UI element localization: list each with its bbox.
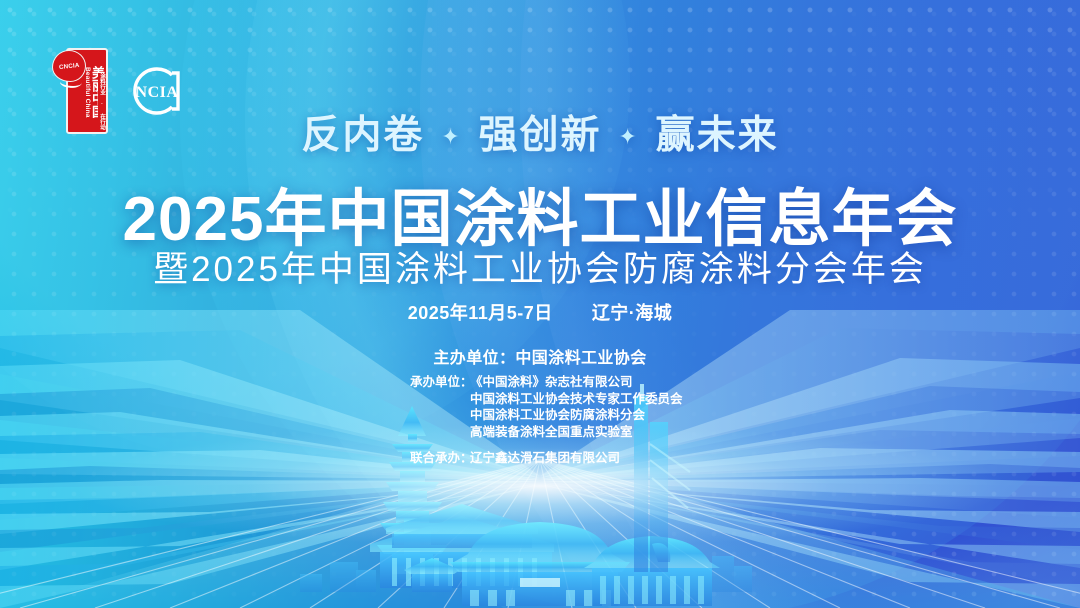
co-organizer-block: 联合承办 ： 辽宁鑫达滑石集团有限公司 — [396, 447, 620, 466]
slogan-part-3: 赢未来 — [656, 114, 779, 157]
host-label: 主办单位： — [433, 350, 515, 367]
organizers-label: 承办单位 — [396, 374, 460, 440]
slogan-separator-icon: ✦ — [618, 124, 638, 150]
co-organizer-value: 辽宁鑫达滑石集团有限公司 — [470, 447, 620, 466]
host-line: 主办单位：中国涂料工业协会 — [0, 344, 1080, 368]
host-value: 中国涂料工业协会 — [515, 350, 646, 367]
banner-content: 反内卷 ✦ 强创新 ✦ 赢未来 2025年中国涂料工业信息年会 暨2025年中国… — [0, 0, 1080, 608]
co-organizer-label: 联合承办 — [396, 447, 460, 466]
organizer-item: 中国涂料工业协会技术专家工作委员会 — [470, 391, 683, 408]
organizer-item: 《中国涂料》杂志社有限公司 — [470, 374, 683, 391]
event-datetime-location: 2025年11月5-7日 辽宁·海城 — [0, 299, 1080, 325]
co-organizer-colon: ： — [460, 447, 470, 466]
slogan-part-2: 强创新 — [478, 114, 601, 157]
slogan-part-1: 反内卷 — [301, 114, 424, 157]
organizers-colon: ： — [460, 374, 470, 440]
event-date: 2025年11月5-7日 — [408, 303, 553, 323]
slogan-separator-icon: ✦ — [441, 124, 461, 150]
organizers-block: 承办单位 ： 《中国涂料》杂志社有限公司 中国涂料工业协会技术专家工作委员会 中… — [396, 374, 683, 440]
organizer-item: 中国涂料工业协会防腐涂料分会 — [470, 407, 683, 424]
event-subtitle: 暨2025年中国涂料工业协会防腐涂料分会年会 — [0, 241, 1080, 292]
event-location: 辽宁·海城 — [592, 303, 673, 323]
organizer-item: 高端装备涂料全国重点实验室 — [470, 424, 683, 441]
event-slogan: 反内卷 ✦ 强创新 ✦ 赢未来 — [0, 104, 1080, 160]
conference-banner: 美丽中国 Beautiful China 涂料行业 · 在行动 CNCIA NC… — [0, 0, 1080, 608]
